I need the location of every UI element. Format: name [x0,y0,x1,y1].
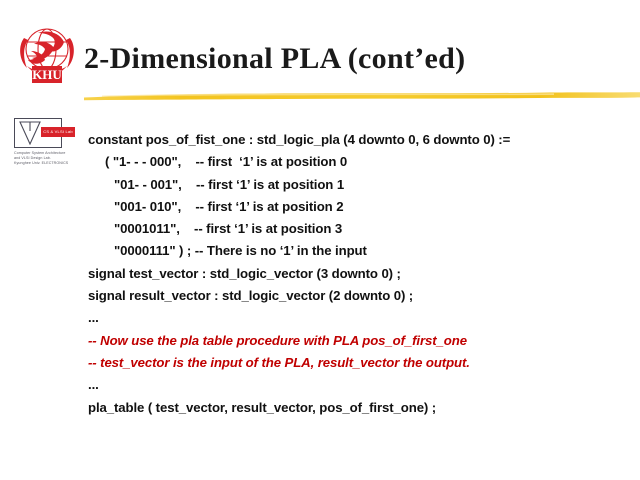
code-comment-line: -- Now use the pla table procedure with … [88,330,636,352]
code-line: pla_table ( test_vector, result_vector, … [88,397,636,419]
code-line: "01- - 001", -- first ‘1’ is at position… [88,174,636,196]
lab-caption: Computer System Architecture and VLSI De… [14,151,80,167]
lab-logo: CS & VLSI Lab Computer System Architectu… [14,118,80,178]
code-line: signal test_vector : std_logic_vector (3… [88,263,636,285]
khu-logo-text: KHU [32,67,62,82]
page-title: 2-Dimensional PLA (cont’ed) [84,41,465,77]
code-line-ellipsis: ... [88,374,636,396]
code-block: constant pos_of_fist_one : std_logic_pla… [88,129,636,419]
code-line: "001- 010", -- first ‘1’ is at position … [88,196,636,218]
code-line: signal result_vector : std_logic_vector … [88,285,636,307]
lab-v-icon [19,121,41,145]
lab-caption-line: Kyunghee Univ. ELECTRONICS [14,161,80,166]
code-line-ellipsis: ... [88,307,636,329]
title-underline-brushstroke [84,90,640,101]
code-line: "0000111" ) ; -- There is no ‘1’ in the … [88,240,636,262]
code-line: ( "1- - - 000", -- first ‘1’ is at posit… [88,151,636,173]
code-comment-line: -- test_vector is the input of the PLA, … [88,352,636,374]
khu-logo: KHU [14,24,80,86]
slide-header: KHU 2-Dimensional PLA (cont’ed) [0,0,640,110]
lab-mark-box: CS & VLSI Lab [14,118,62,148]
khu-emblem-icon: KHU [14,24,80,86]
lab-badge: CS & VLSI Lab [41,127,75,137]
code-line: constant pos_of_fist_one : std_logic_pla… [88,129,636,151]
code-line: "0001011", -- first ‘1’ is at position 3 [88,218,636,240]
